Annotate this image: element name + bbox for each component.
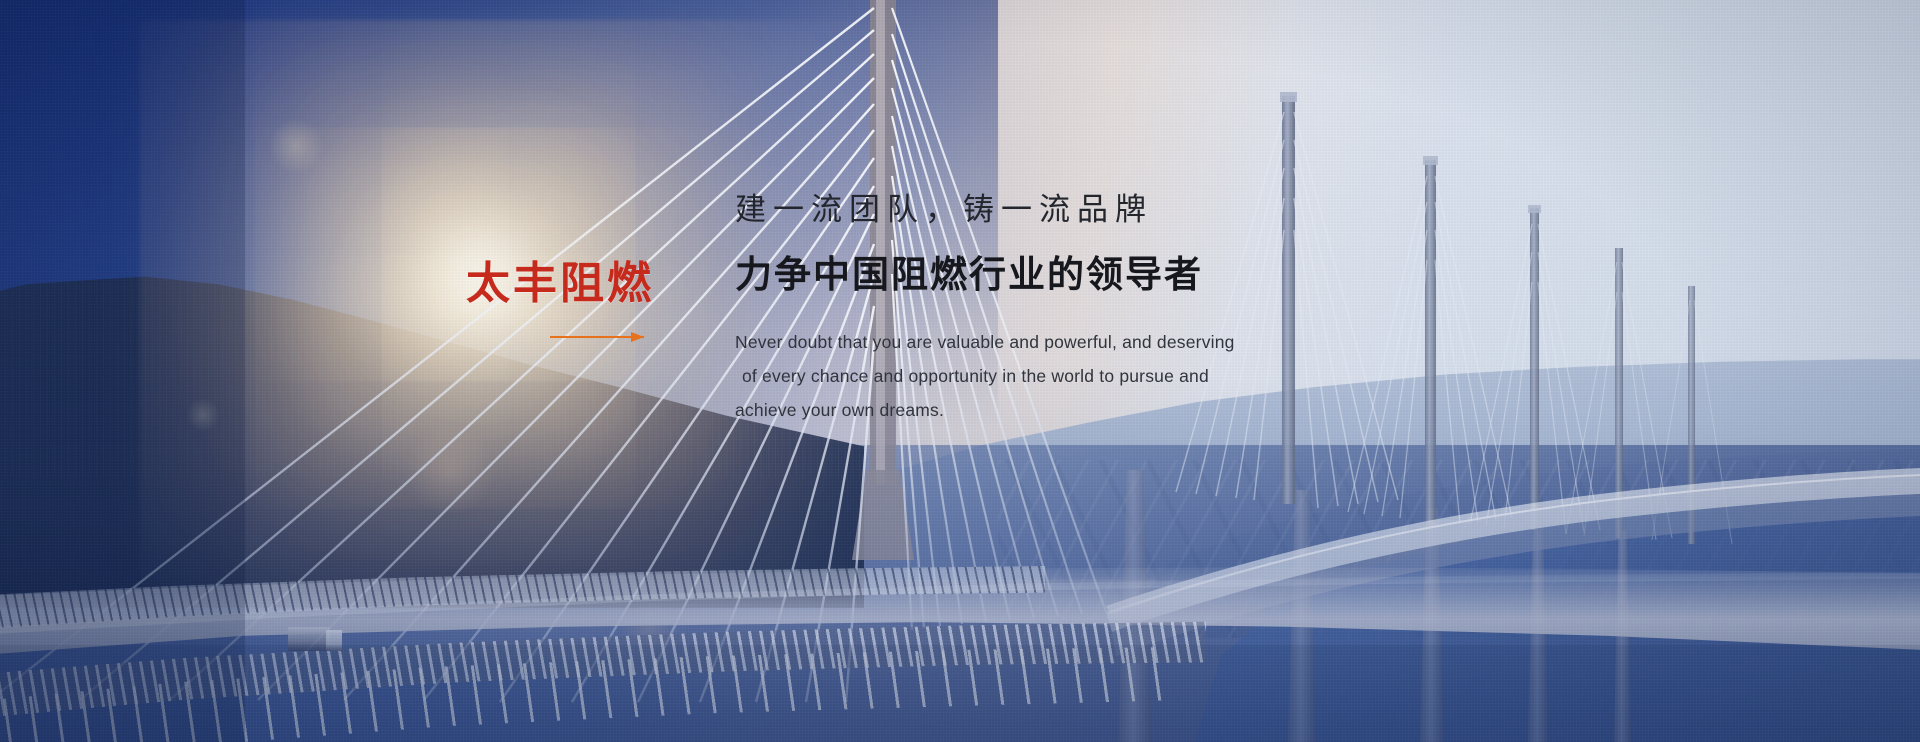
headline-subtitle: 建一流团队，铸一流品牌	[735, 190, 1375, 230]
paragraph-line: of every chance and opportunity in the w…	[735, 359, 1375, 393]
banner-content: 太丰阻燃 建一流团队，铸一流品牌 力争中国阻燃行业的领导者 Never doub…	[0, 0, 1920, 742]
paragraph-line: achieve your own dreams.	[735, 393, 1375, 427]
brand-logo[interactable]: 太丰阻燃	[466, 262, 696, 342]
paragraph-line: Never doubt that you are valuable and po…	[735, 325, 1375, 359]
hero-banner: 太丰阻燃 建一流团队，铸一流品牌 力争中国阻燃行业的领导者 Never doub…	[0, 0, 1920, 742]
banner-paragraph: Never doubt that you are valuable and po…	[735, 325, 1375, 427]
arrow-right-icon	[550, 332, 644, 342]
arrow-head	[631, 332, 644, 342]
brand-logo-text: 太丰阻燃	[466, 262, 696, 306]
banner-text-block: 建一流团队，铸一流品牌 力争中国阻燃行业的领导者 Never doubt tha…	[735, 190, 1375, 427]
arrow-shaft	[550, 336, 644, 338]
headline-title: 力争中国阻燃行业的领导者	[735, 252, 1375, 298]
